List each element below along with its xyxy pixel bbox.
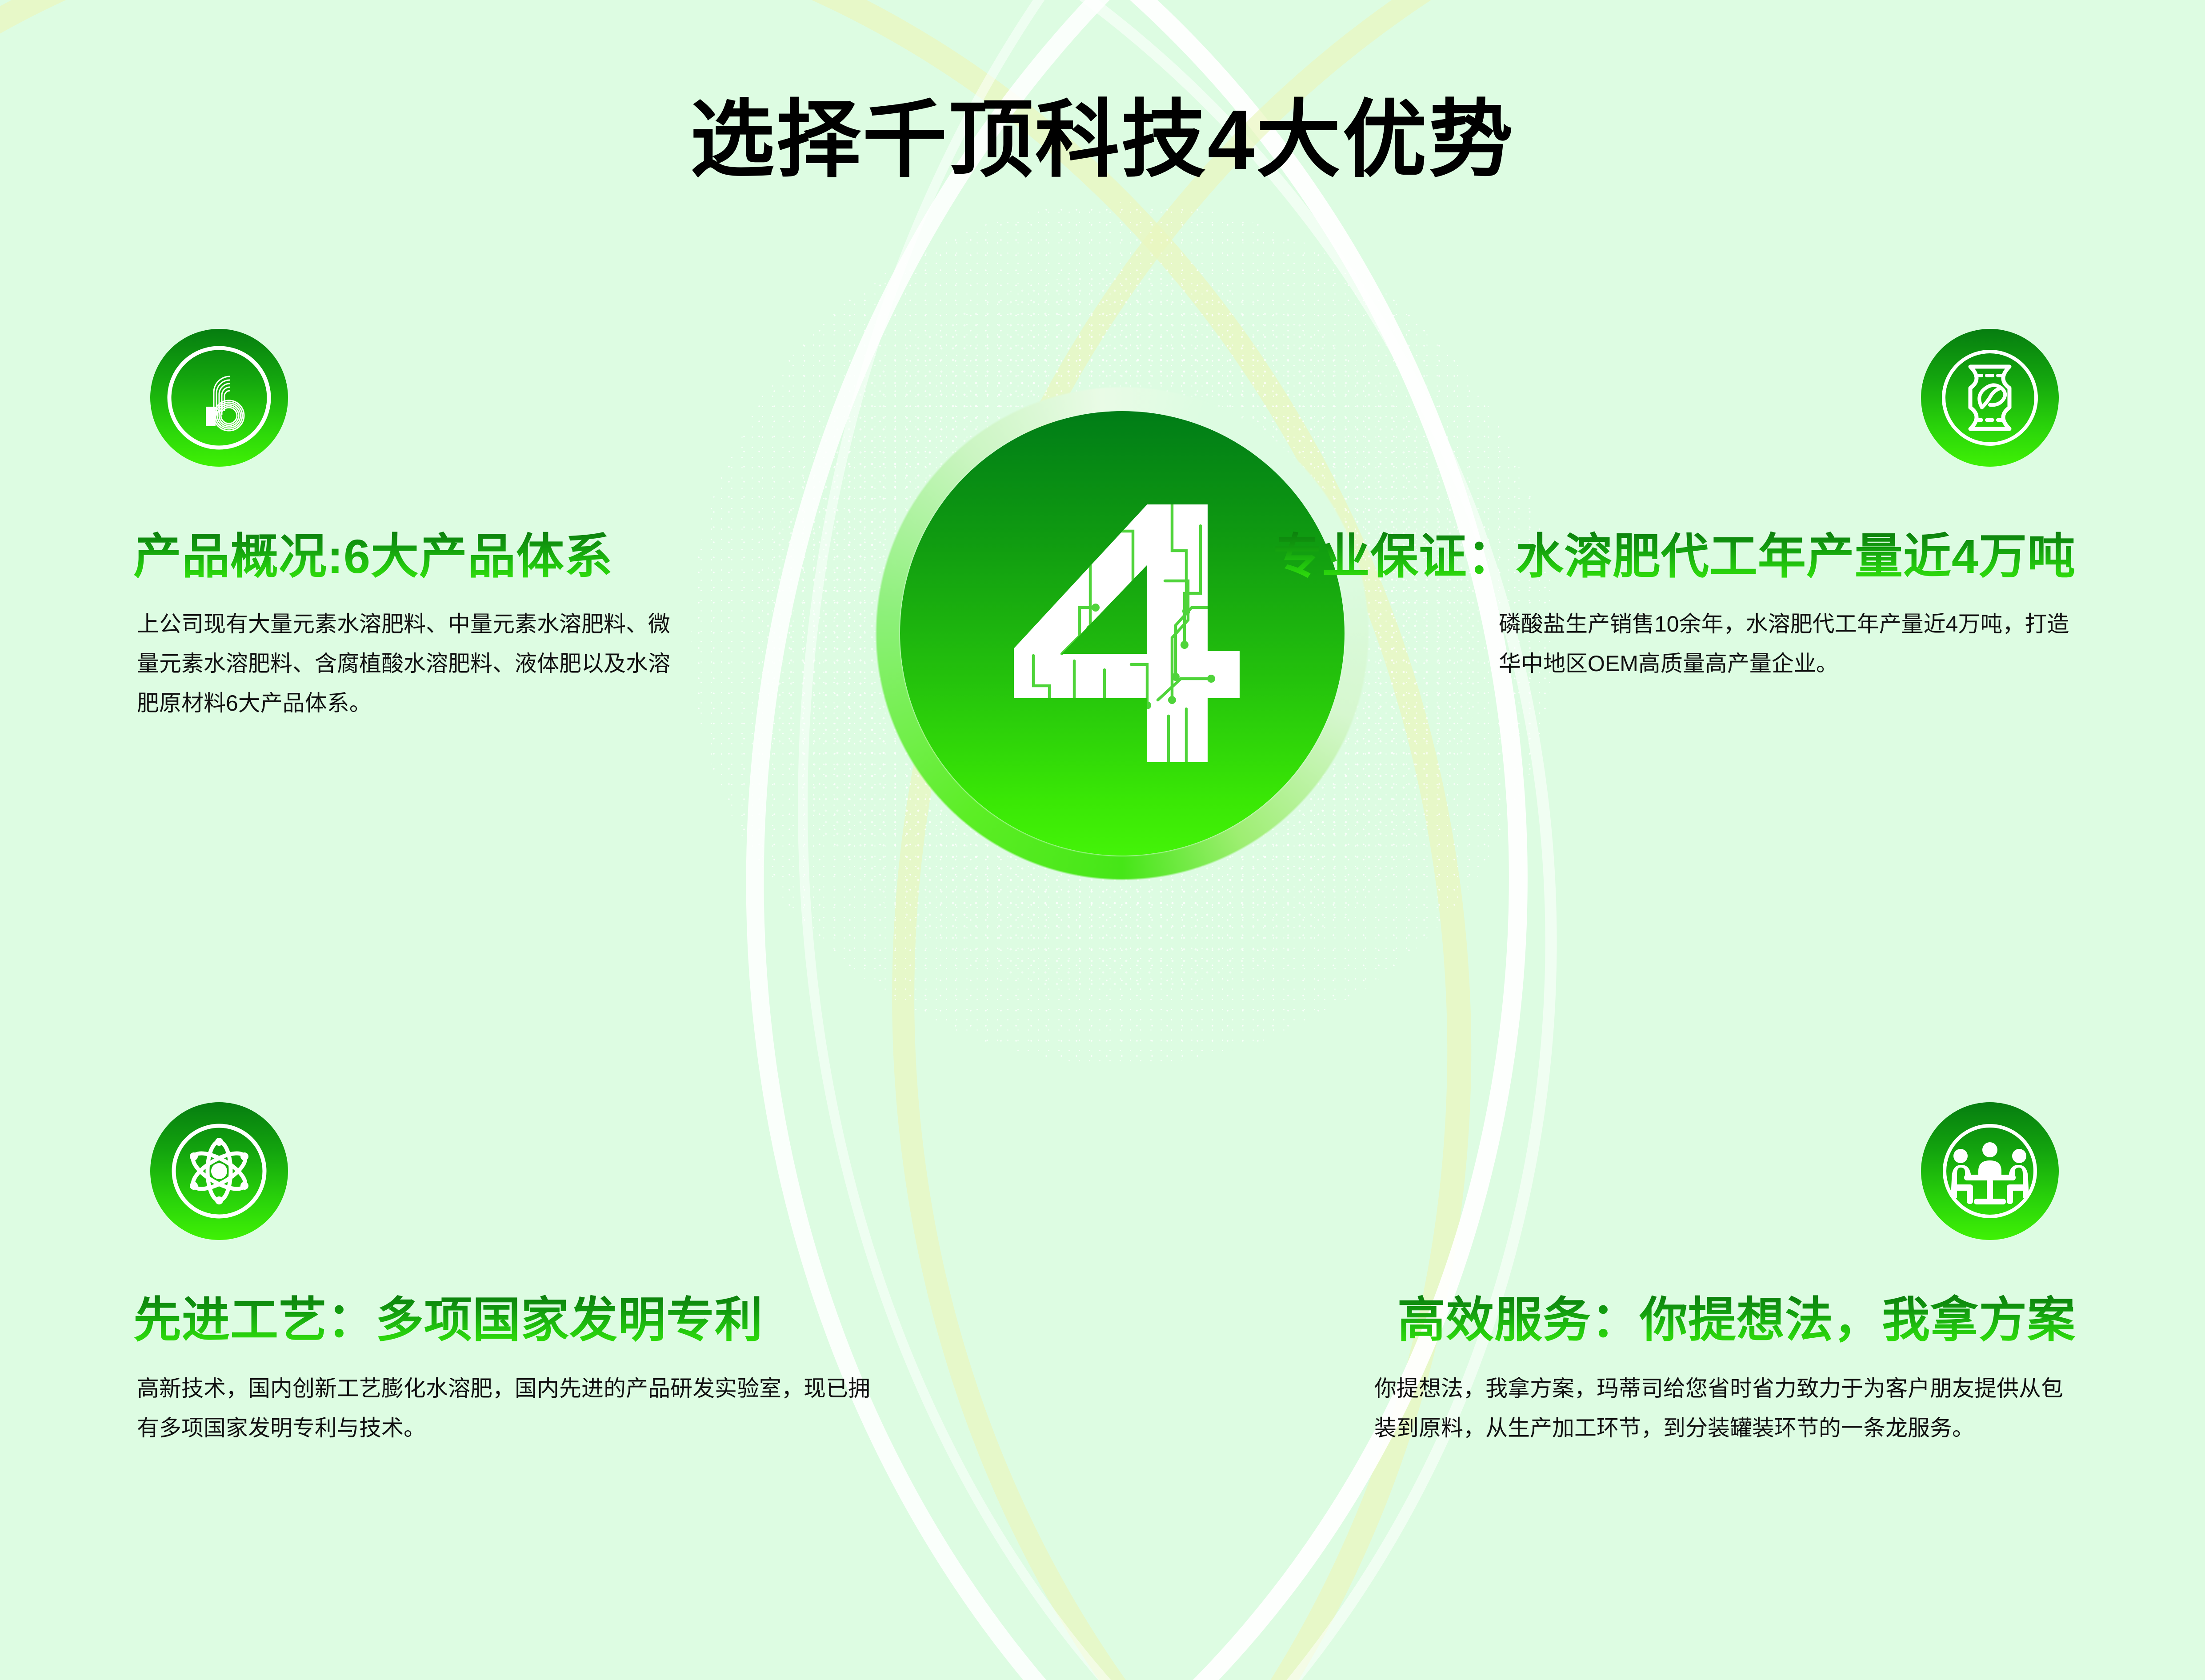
- meeting-table-people-icon: [1921, 1102, 2059, 1240]
- center-emblem: [691, 202, 1553, 1064]
- page-title: 选择千顶科技4大优势: [0, 98, 2205, 182]
- center-number-disc: [900, 411, 1345, 856]
- atom-icon: [150, 1102, 288, 1240]
- circuit-four-icon: [998, 496, 1247, 771]
- number-six-spiral-icon: [150, 329, 288, 467]
- advantage-body: 上公司现有大量元素水溶肥料、中量元素水溶肥料、微量元素水溶肥料、含腐植酸水溶肥料…: [137, 604, 688, 723]
- advantage-heading: 先进工艺：多项国家发明专利: [133, 1293, 763, 1347]
- advantage-body: 高新技术，国内创新工艺膨化水溶肥，国内先进的产品研发实验室，现已拥有多项国家发明…: [137, 1369, 884, 1448]
- advantage-body: 你提想法，我拿方案，玛蒂司给您省时省力致力于为客户朋友提供从包装到原料，从生产加…: [1374, 1369, 2072, 1448]
- advantage-heading: 专业保证：水溶肥代工年产量近4万吨: [1273, 530, 2076, 584]
- infographic-canvas: 选择千顶科技4大优势: [0, 0, 2205, 1680]
- advantage-body: 磷酸盐生产销售10余年，水溶肥代工年产量近4万吨，打造华中地区OEM高质量高产量…: [1499, 604, 2072, 684]
- advantage-heading: 高效服务：你提想法，我拿方案: [1397, 1293, 2076, 1347]
- advantage-heading: 产品概况:6大产品体系: [133, 530, 613, 584]
- fertilizer-bag-icon: [1921, 329, 2059, 467]
